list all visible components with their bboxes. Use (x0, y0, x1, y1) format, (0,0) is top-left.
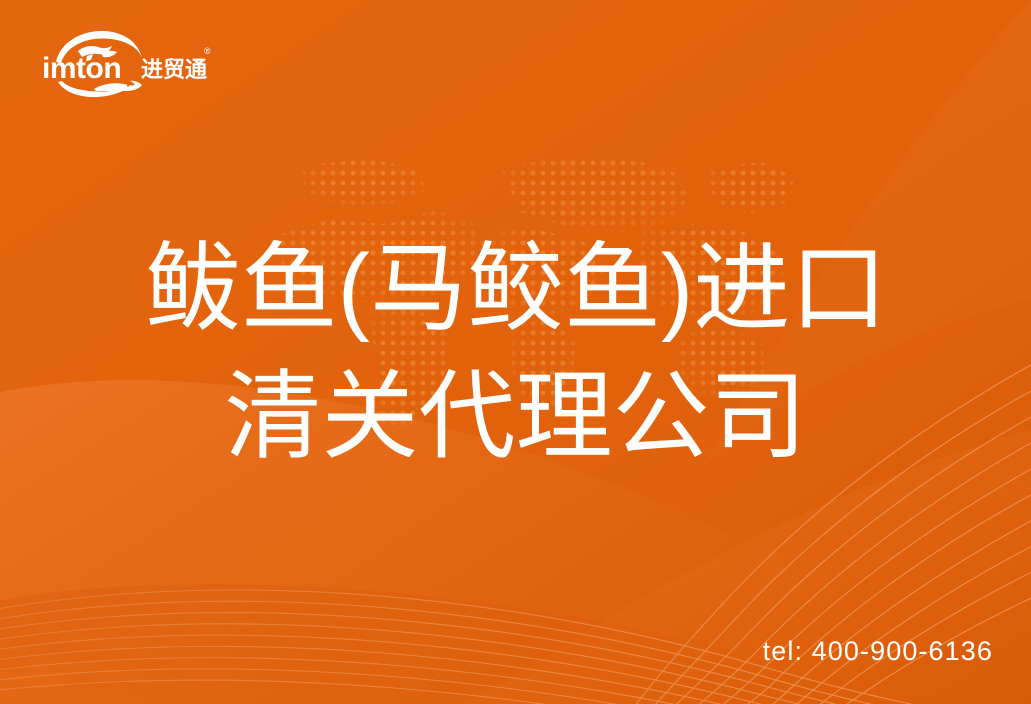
promo-banner: imton 进贸通 ® imton 进贸通 鲅鱼(马鲛鱼)进口 清关代理公司 t… (0, 0, 1031, 704)
contact-phone[interactable]: tel: 400-900-6136 (763, 636, 993, 667)
page-title: 鲅鱼(马鲛鱼)进口 清关代理公司 (0, 225, 1031, 481)
logo-chinese-name: 进贸通 (141, 57, 207, 82)
imton-logo[interactable]: imton 进贸通 ® (38, 28, 213, 100)
title-line-1: 鲅鱼(马鲛鱼)进口 (0, 225, 1031, 353)
title-line-2: 清关代理公司 (0, 353, 1031, 481)
logo-wordmark: imton (42, 52, 121, 85)
trademark-icon: ® (204, 46, 211, 56)
